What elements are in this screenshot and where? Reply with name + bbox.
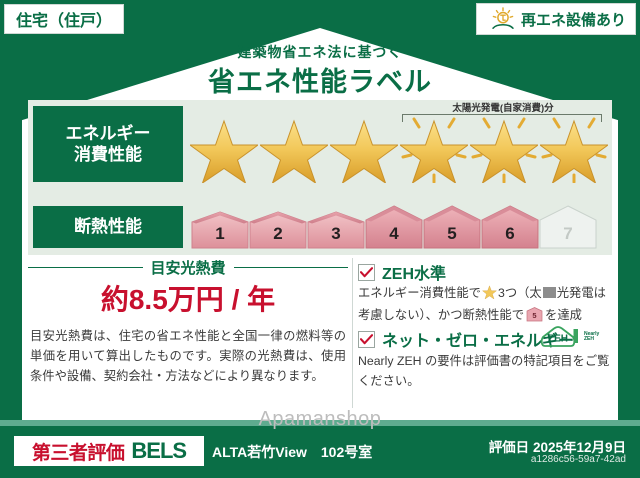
star-6-solar xyxy=(540,105,608,183)
svg-text:5: 5 xyxy=(532,311,536,320)
net-zero-energy-body: Nearly ZEH の要件は評価書の特記項目をご覧ください。 xyxy=(358,352,612,392)
insulation-house-3-number: 3 xyxy=(306,224,366,244)
star-3 xyxy=(330,105,398,183)
bels-en-label: BELS xyxy=(131,438,186,464)
label-subtitle: 建築物省エネ法に基づく xyxy=(0,42,640,62)
insulation-house-6: 6 xyxy=(480,204,540,250)
energy-star-rating xyxy=(190,104,606,184)
star-1 xyxy=(190,105,258,183)
bels-jp-label: 第三者評価 xyxy=(32,438,125,465)
insulation-house-7-inactive: 7 xyxy=(538,204,598,250)
zeh-standard-title: ZEH水準 xyxy=(382,260,446,284)
insulation-house-2: 2 xyxy=(248,204,308,250)
star-2 xyxy=(260,105,328,183)
insulation-house-4: 4 xyxy=(364,204,424,250)
insulation-house-5-number: 5 xyxy=(422,224,482,244)
insulation-level-scale: 1 2 3 xyxy=(190,204,596,250)
insulation-house-1: 1 xyxy=(190,204,250,250)
cost-title: 目安光熱費 xyxy=(151,257,226,278)
insulation-house-5: 5 xyxy=(422,204,482,250)
energy-performance-label-box: エネルギー 消費性能 xyxy=(33,106,183,182)
footer: 第三者評価 BELS ALTA若竹View 102号室 評価日 2025年12月… xyxy=(0,420,640,478)
energy-label-line1: エネルギー xyxy=(66,123,151,144)
zeh-logo-sublabel: Nearly ZEH xyxy=(584,332,599,343)
cost-rule-right xyxy=(234,267,349,268)
insulation-label: 断熱性能 xyxy=(74,216,142,237)
evaluation-id: a1286c56-59a7-42ad xyxy=(531,454,626,465)
zeh-standard-header: ZEH水準 xyxy=(358,260,446,284)
footer-stripe xyxy=(0,420,640,426)
cost-note: 目安光熱費は、住宅の省エネ性能と全国一律の燃料等の単価を用いて算出したものです。… xyxy=(30,327,346,387)
star-5-solar xyxy=(470,105,538,183)
star-4-solar xyxy=(400,105,468,183)
cost-rule-left xyxy=(28,267,143,268)
estimated-utility-cost-header: 目安光熱費 xyxy=(28,258,348,276)
energy-performance-label: 住宅（住戸） 再エネ設備あり 建築物省エネ法に基づく 省エネ性能ラベル xyxy=(0,0,640,478)
insulation-house-3: 3 xyxy=(306,204,366,250)
zeh-section-divider xyxy=(352,258,353,408)
check-icon-net-zero-energy xyxy=(358,331,375,348)
zeh-logo-icon: ZEH xyxy=(540,326,584,348)
cost-value: 約8.5万円 / 年 xyxy=(28,278,348,318)
check-icon-zeh-standard xyxy=(358,264,375,281)
property-name: ALTA若竹View 102号室 xyxy=(212,442,372,462)
zeh-standard-body: エネルギー消費性能で3つ（太光発電は考慮しない）、かつ断熱性能で5を達成 xyxy=(358,284,612,326)
insulation-house-2-number: 2 xyxy=(248,224,308,244)
inline-insulation-house-icon: 5 xyxy=(526,307,543,322)
insulation-performance-label-box: 断熱性能 xyxy=(33,206,183,248)
badge-dwelling-label: 住宅（住戸） xyxy=(16,7,112,31)
page-title: 省エネ性能ラベル xyxy=(0,60,640,99)
bels-logo: 第三者評価 BELS xyxy=(14,436,204,466)
zeh-standard-body-a: エネルギー消費性能で xyxy=(358,286,481,300)
zeh-standard-body-c: 光発電 xyxy=(557,286,594,300)
badge-dwelling-type: 住宅（住戸） xyxy=(4,4,124,34)
zeh-logo-sub-line2: ZEH xyxy=(584,337,599,342)
zeh-standard-body-e: を達成 xyxy=(545,308,582,322)
sun-solar-icon xyxy=(490,7,516,31)
redacted-text-block xyxy=(543,287,556,298)
insulation-house-7-number: 7 xyxy=(538,224,598,244)
insulation-house-6-number: 6 xyxy=(480,224,540,244)
badge-renewable-equipment: 再エネ設備あり xyxy=(476,3,636,35)
insulation-house-4-number: 4 xyxy=(364,224,424,244)
inline-star-icon xyxy=(482,285,497,306)
evaluation-date: 評価日 2025年12月9日 xyxy=(489,436,626,456)
zeh-standard-body-b: 3つ（太 xyxy=(498,286,542,300)
badge-renewable-label: 再エネ設備あり xyxy=(521,9,626,30)
insulation-house-1-number: 1 xyxy=(190,224,250,244)
energy-label-line2: 消費性能 xyxy=(74,144,142,165)
svg-text:ZEH: ZEH xyxy=(548,334,568,345)
